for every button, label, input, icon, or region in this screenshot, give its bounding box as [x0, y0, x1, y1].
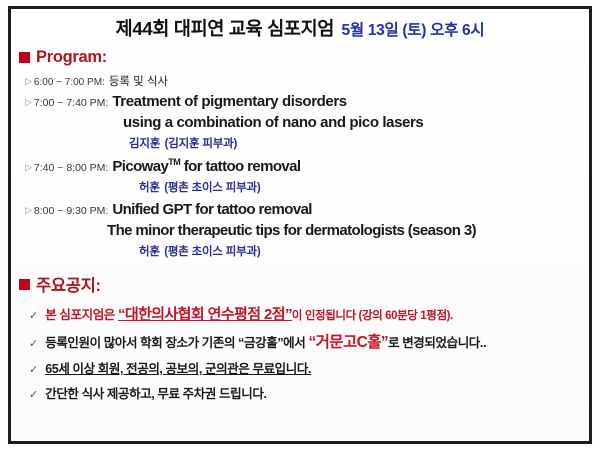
quote-open: “ [308, 334, 315, 351]
notice-post-text: 로 변경되었습니다.. [388, 336, 486, 350]
quote-close: ” [285, 306, 292, 323]
program-item-topic-brand: Picoway [112, 158, 168, 175]
program-item: ▷ 7:40 ~ 8:00 PM: PicowayTM for tattoo r… [11, 155, 589, 177]
quote-close: ” [381, 334, 388, 351]
program-item-affiliation: (평촌 초이스 피부과) [164, 246, 260, 258]
red-square-icon [19, 279, 30, 290]
notice-emphasis-text: 거문고C홀 [316, 334, 381, 351]
program-item-topic: PicowayTM for tattoo removal [112, 157, 300, 175]
notice-item-text: 간단한 식사 제공하고, 무료 주차권 드립니다. [45, 383, 266, 402]
program-item: ▷ 8:00 ~ 9:30 PM: Unified GPT for tattoo… [11, 199, 589, 220]
poster-frame: 제44회 대피연 교육 심포지엄 5월 13일 (토) 오후 6시 Progra… [8, 6, 592, 444]
program-item-speaker-row: 허훈 (평촌 초이스 피부과) [11, 177, 589, 199]
notice-item: ✓ 등록인원이 많아서 학회 장소가 기존의 “금강홀”에서 “거문고C홀”로 … [11, 327, 589, 355]
notice-section-label: 주요공지: [36, 272, 101, 296]
program-list: ▷ 6:00 ~ 7:00 PM: 등록 및 식사 ▷ 7:00 ~ 7:40 … [11, 71, 589, 263]
program-item-time: 7:40 ~ 8:00 PM: [34, 162, 108, 174]
program-item-time: 7:00 ~ 7:40 PM: [34, 97, 108, 109]
program-item-topic-tail: for tattoo removal [180, 158, 300, 175]
notice-item-text: 등록인원이 많아서 학회 장소가 기존의 “금강홀”에서 “거문고C홀”로 변경… [45, 330, 486, 352]
notice-list: ✓ 본 심포지엄은 “대한의사협회 연수평점 2점”이 인정됩니다 (강의 60… [11, 300, 589, 405]
notice-item: ✓ 본 심포지엄은 “대한의사협회 연수평점 2점”이 인정됩니다 (강의 60… [11, 300, 589, 327]
notice-emphasis-text: 대한의사협회 연수평점 2점 [125, 306, 285, 323]
program-section-label: Program: [36, 48, 107, 67]
title-date-text: 5월 13일 (토) 오후 6시 [342, 22, 485, 39]
program-item-speaker-row: 김지훈 (김지훈 피부과) [11, 133, 589, 155]
program-item-topic-line2: The minor therapeutic tips for dermatolo… [107, 222, 476, 239]
program-item-speaker: 허훈 [139, 182, 160, 194]
program-item-topic-line2: using a combination of nano and pico las… [123, 114, 423, 131]
quote-open: “ [118, 306, 125, 323]
notice-item-text: 65세 이상 회원, 전공의, 공보의, 군의관은 무료입니다. [45, 358, 311, 377]
program-item-time: 8:00 ~ 9:30 PM: [34, 205, 108, 217]
page-title: 제44회 대피연 교육 심포지엄 5월 13일 (토) 오후 6시 [11, 9, 589, 43]
check-icon: ✓ [29, 337, 38, 350]
notice-pre-text: 본 심포지엄은 [45, 308, 118, 322]
program-item-speaker: 김지훈 [129, 138, 160, 150]
program-item-topic-line2-row: The minor therapeutic tips for dermatolo… [11, 220, 589, 241]
program-item-speaker-row: 허훈 (평촌 초이스 피부과) [11, 241, 589, 263]
notice-item: ✓ 65세 이상 회원, 전공의, 공보의, 군의관은 무료입니다. [11, 355, 589, 380]
program-item-time: 6:00 ~ 7:00 PM: [34, 77, 105, 88]
program-item-topic-line2-row: using a combination of nano and pico las… [11, 112, 589, 133]
trademark-mark: TM [168, 157, 180, 167]
poster-content: 제44회 대피연 교육 심포지엄 5월 13일 (토) 오후 6시 Progra… [11, 9, 589, 441]
notice-emphasis: “대한의사협회 연수평점 2점” [118, 306, 292, 323]
symposium-poster: 제44회 대피연 교육 심포지엄 5월 13일 (토) 오후 6시 Progra… [0, 0, 600, 450]
notice-item-text: 본 심포지엄은 “대한의사협회 연수평점 2점”이 인정됩니다 (강의 60분당… [45, 303, 453, 324]
triangle-right-icon: ▷ [25, 163, 32, 172]
triangle-right-icon: ▷ [25, 77, 32, 86]
notice-section-heading: 주요공지: [19, 272, 589, 296]
program-item-topic: Unified GPT for tattoo removal [112, 201, 312, 218]
check-icon: ✓ [29, 388, 38, 401]
program-item-topic: Treatment of pigmentary disorders [112, 93, 346, 110]
program-item: ▷ 7:00 ~ 7:40 PM: Treatment of pigmentar… [11, 91, 589, 112]
triangle-right-icon: ▷ [25, 206, 32, 215]
triangle-right-icon: ▷ [25, 98, 32, 107]
program-item-affiliation: (김지훈 피부과) [165, 138, 238, 150]
program-item-topic: 등록 및 식사 [109, 73, 168, 89]
program-section-heading: Program: [19, 48, 589, 67]
program-item-speaker: 허훈 [139, 246, 160, 258]
program-item: ▷ 6:00 ~ 7:00 PM: 등록 및 식사 [11, 71, 589, 91]
check-icon: ✓ [29, 363, 38, 376]
program-item-affiliation: (평촌 초이스 피부과) [164, 182, 260, 194]
check-icon: ✓ [29, 309, 38, 322]
notice-post-text: 이 인정됩니다 (강의 60분당 1평점). [292, 310, 453, 322]
notice-pre-text: 등록인원이 많아서 학회 장소가 기존의 “금강홀”에서 [45, 336, 308, 350]
notice-emphasis: “거문고C홀” [308, 334, 388, 351]
title-main-text: 제44회 대피연 교육 심포지엄 [116, 18, 334, 39]
notice-item: ✓ 간단한 식사 제공하고, 무료 주차권 드립니다. [11, 380, 589, 405]
red-square-icon [19, 52, 30, 63]
